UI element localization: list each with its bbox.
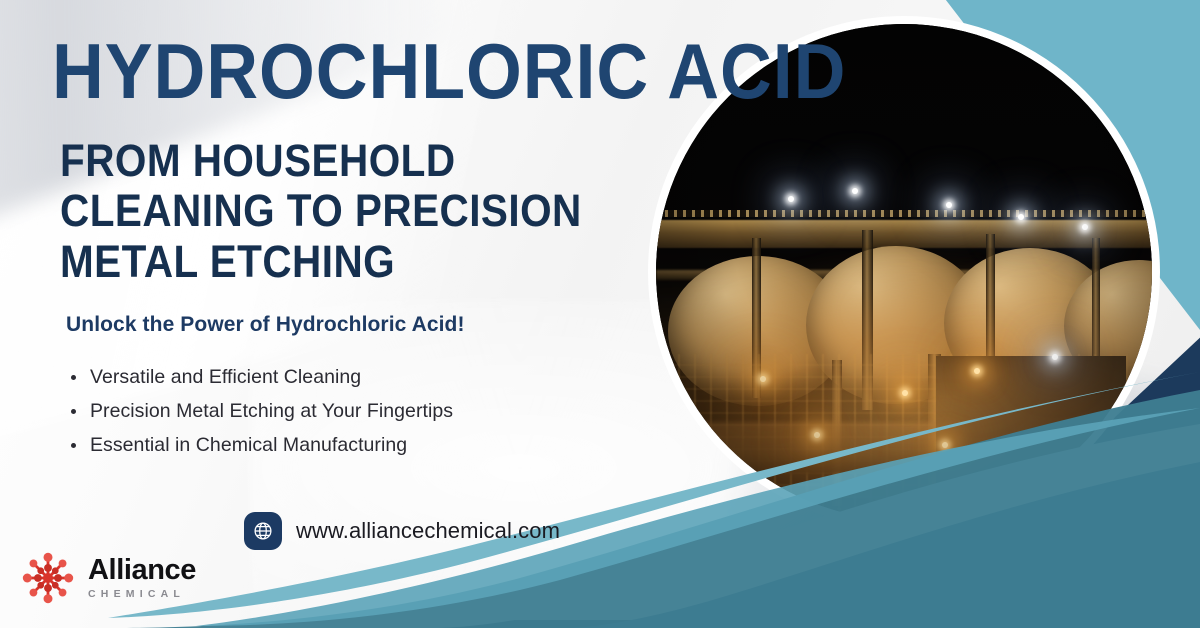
tagline: Unlock the Power of Hydrochloric Acid! [66, 313, 465, 337]
promotional-banner: HYDROCHLORIC ACID FROM HOUSEHOLD CLEANIN… [0, 0, 1200, 628]
bullet-dot-icon [71, 443, 76, 448]
list-item: Essential in Chemical Manufacturing [66, 428, 453, 462]
bullet-dot-icon [71, 375, 76, 380]
logo-company-name: Alliance [88, 556, 196, 585]
subtitle: FROM HOUSEHOLD CLEANING TO PRECISION MET… [60, 136, 582, 287]
subtitle-line-3: METAL ETCHING [60, 237, 582, 287]
website-url-text[interactable]: www.alliancechemical.com [296, 518, 560, 544]
molecule-cluster-icon [20, 550, 76, 606]
list-item-label: Essential in Chemical Manufacturing [90, 434, 407, 456]
brand-logo[interactable]: Alliance CHEMICAL [20, 550, 196, 606]
list-item-label: Versatile and Efficient Cleaning [90, 366, 361, 388]
logo-text: Alliance CHEMICAL [88, 556, 196, 600]
page-title: HYDROCHLORIC ACID [52, 34, 846, 108]
list-item: Versatile and Efficient Cleaning [66, 360, 453, 394]
list-item-label: Precision Metal Etching at Your Fingerti… [90, 400, 453, 422]
globe-icon [252, 520, 274, 542]
subtitle-line-1: FROM HOUSEHOLD [60, 136, 582, 186]
feature-list: Versatile and Efficient Cleaning Precisi… [66, 360, 453, 462]
globe-icon-badge [244, 512, 282, 550]
list-item: Precision Metal Etching at Your Fingerti… [66, 394, 453, 428]
website-link[interactable]: www.alliancechemical.com [244, 512, 560, 550]
subtitle-line-2: CLEANING TO PRECISION [60, 186, 582, 236]
bullet-dot-icon [71, 409, 76, 414]
logo-company-subtitle: CHEMICAL [88, 589, 196, 600]
